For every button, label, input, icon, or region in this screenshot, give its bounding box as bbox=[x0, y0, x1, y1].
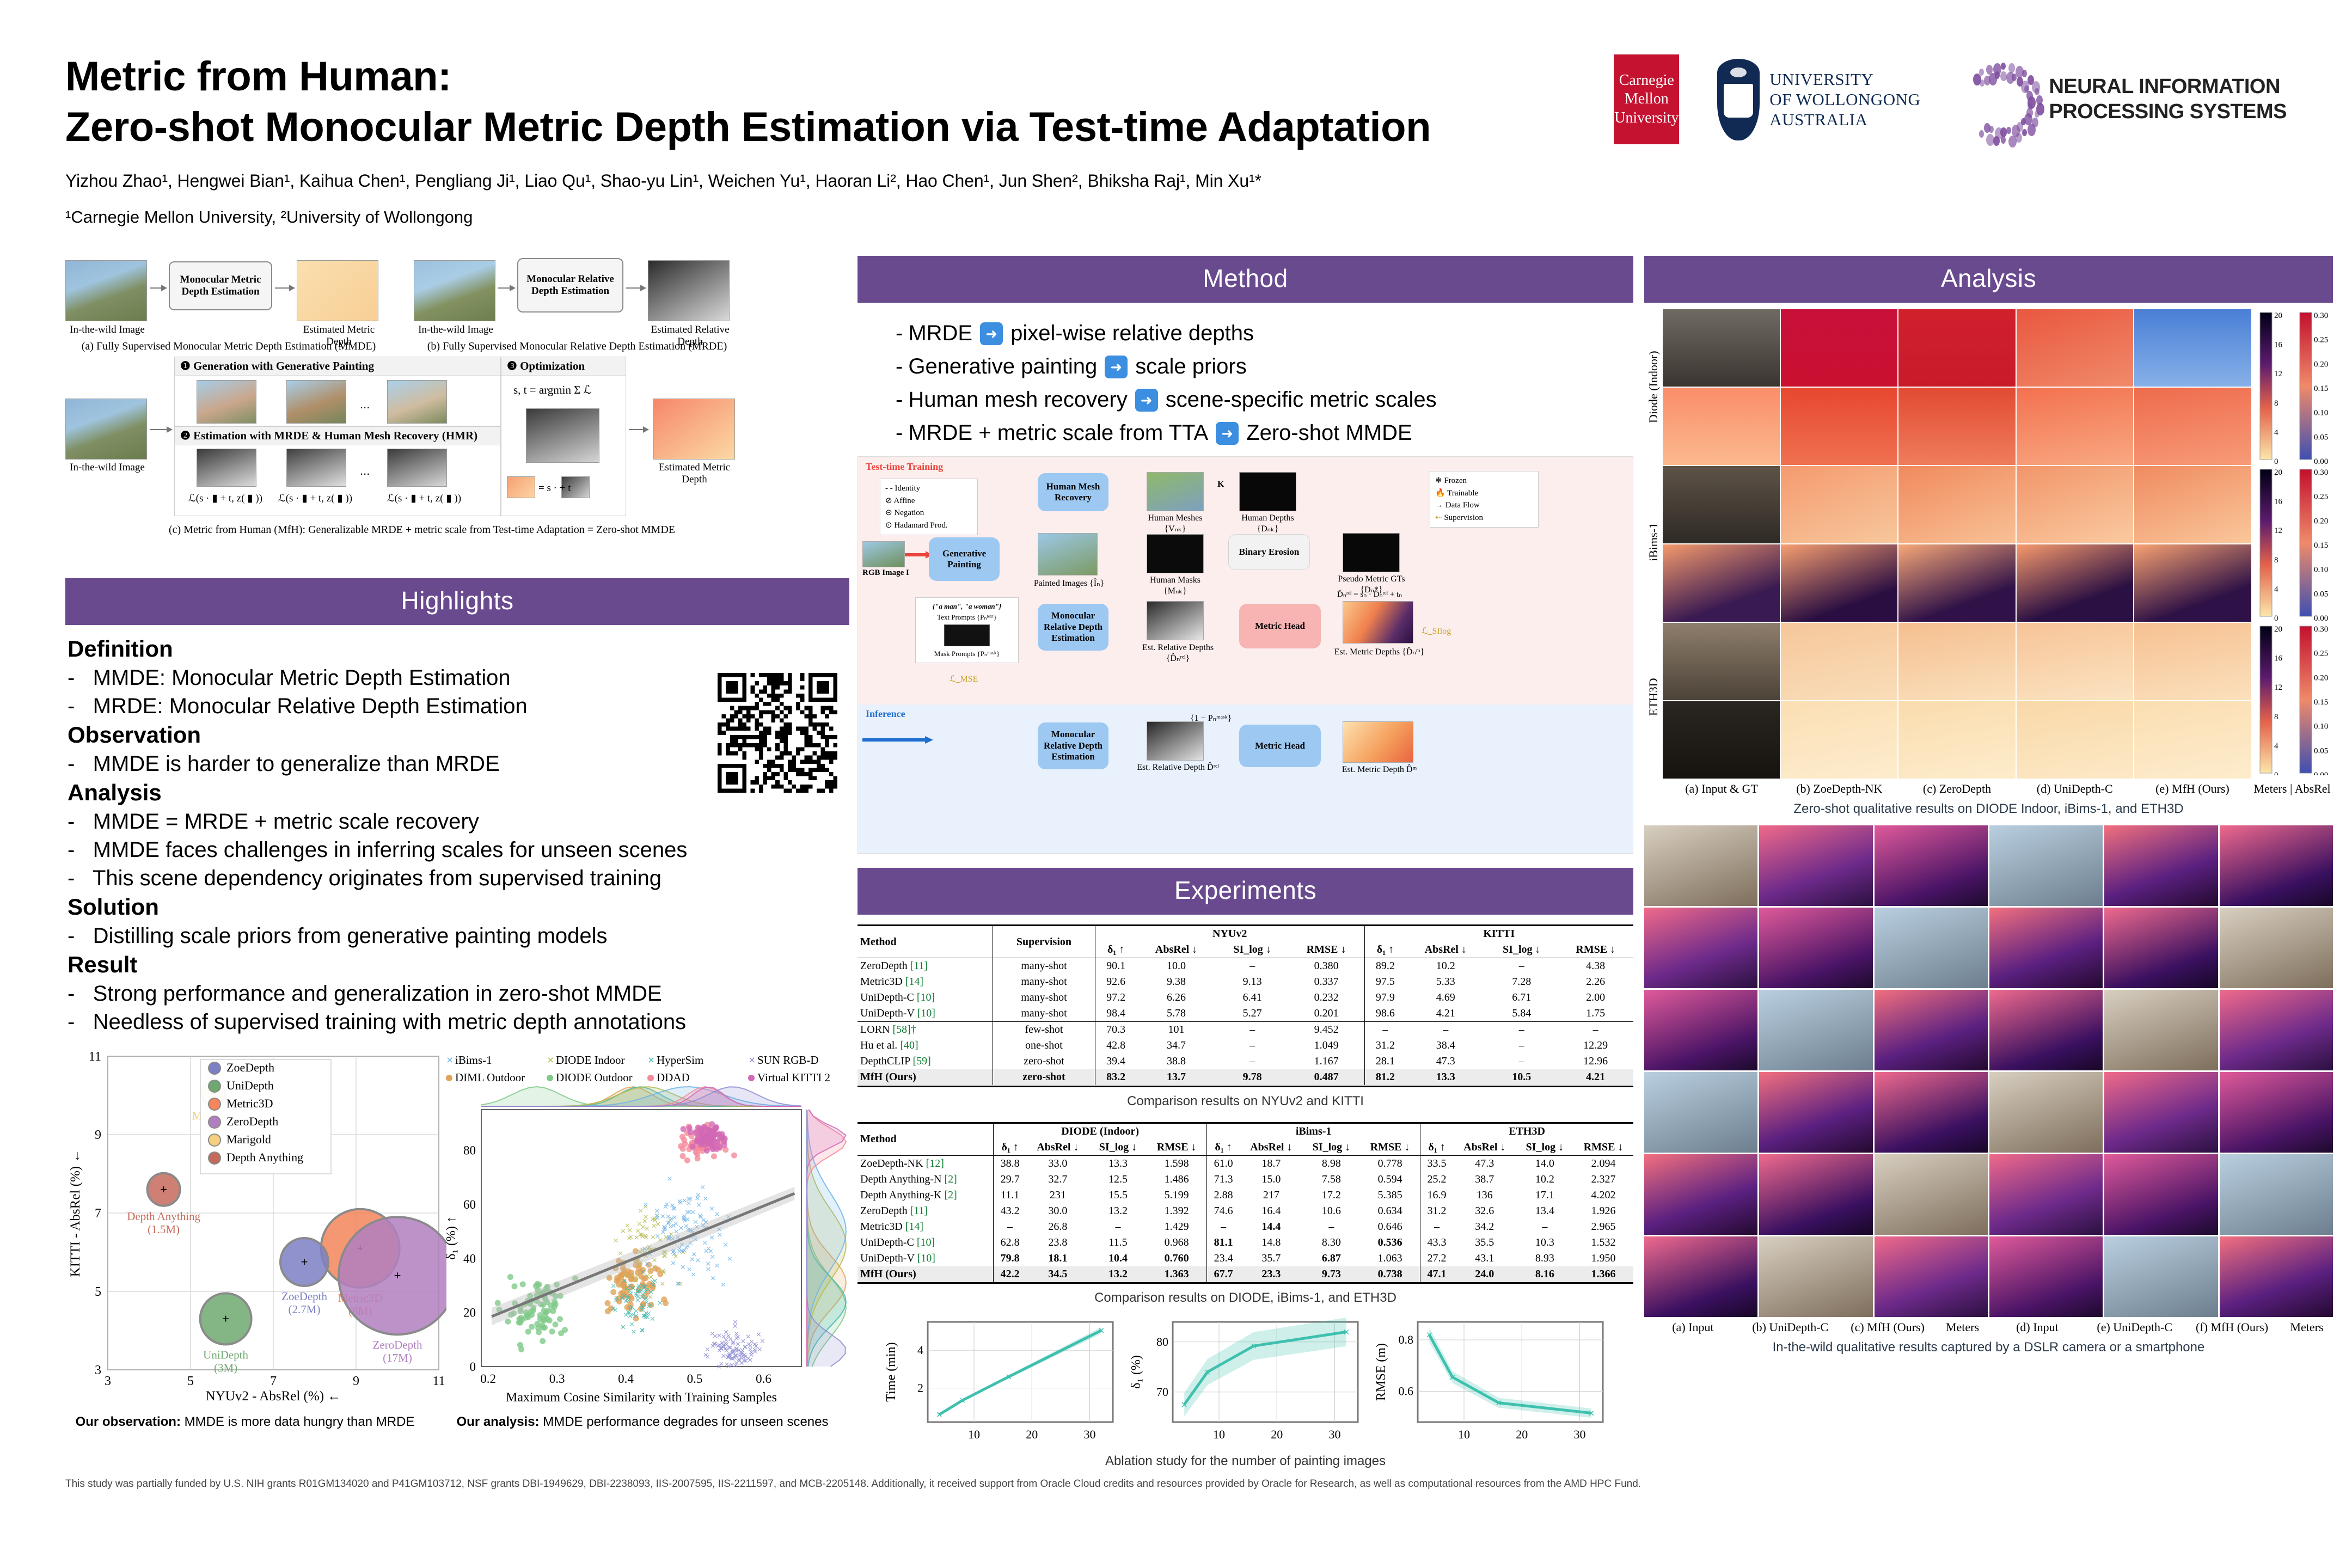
cell-method: ZeroDepth [11] bbox=[857, 1203, 994, 1219]
cell-value: – bbox=[1216, 1022, 1289, 1038]
observation-note-label: Our observation: bbox=[76, 1414, 181, 1429]
svg-text:70: 70 bbox=[1156, 1385, 1168, 1399]
svg-text:×: × bbox=[720, 1279, 726, 1290]
analysis-image-cell bbox=[1759, 825, 1872, 906]
pipeline-est-metric-depths bbox=[1343, 601, 1413, 644]
svg-text:×: × bbox=[622, 1270, 628, 1280]
svg-text:×: × bbox=[663, 1202, 668, 1212]
pipeline-legend-dataflow: → Data Flow bbox=[1435, 499, 1533, 512]
cell-value: 9.452 bbox=[1289, 1022, 1364, 1038]
cell-value: 13.3 bbox=[1406, 1069, 1485, 1085]
cell-value: 38.4 bbox=[1406, 1038, 1485, 1053]
svg-text:KITTI - AbsRel (%) ←: KITTI - AbsRel (%) ← bbox=[68, 1149, 83, 1277]
cell-value: 16.4 bbox=[1240, 1203, 1303, 1219]
svg-text:0.10: 0.10 bbox=[2314, 566, 2328, 574]
cell-method: Metric3D [14] bbox=[857, 1219, 994, 1235]
cell-value: 43.1 bbox=[1453, 1251, 1516, 1266]
pipeline-train-label: Test-time Training bbox=[866, 461, 943, 473]
cell-value: 43.3 bbox=[1420, 1235, 1453, 1251]
neurips-line1: NEURAL INFORMATION bbox=[2049, 75, 2287, 100]
svg-text:×: × bbox=[624, 1220, 630, 1230]
cell-value: – bbox=[1516, 1219, 1573, 1235]
cell-method: MfH (Ours) bbox=[857, 1266, 994, 1282]
analysis-col-caption: (e) MfH (Ours) bbox=[2134, 782, 2251, 796]
analysis-image-cell bbox=[1759, 1236, 1872, 1317]
th-metric: AbsRel ↓ bbox=[1026, 1140, 1089, 1156]
cell-value: – bbox=[1207, 1219, 1240, 1235]
op-legend-affine: ⊘ Affine bbox=[885, 495, 972, 507]
svg-text:×: × bbox=[1495, 1398, 1502, 1410]
cell-value: 32.7 bbox=[1026, 1172, 1089, 1187]
analysis-col-caption: (b) ZoeDepth-NK bbox=[1780, 782, 1898, 796]
analysis-note-text: MMDE performance degrades for unseen sce… bbox=[540, 1414, 829, 1429]
cell-value: 26.8 bbox=[1026, 1219, 1089, 1235]
cell-value: – bbox=[1364, 1022, 1406, 1038]
colorbar-meters: 201612840201612840201612840 bbox=[2259, 309, 2292, 775]
analysis-image-cell bbox=[1989, 1072, 2103, 1153]
analysis-image-cell bbox=[1898, 544, 2016, 622]
cell-value: 2.88 bbox=[1207, 1187, 1240, 1203]
analysis-image-cell bbox=[1781, 701, 1898, 779]
cell-value: 17.1 bbox=[1516, 1187, 1573, 1203]
svg-text:(1.5M): (1.5M) bbox=[148, 1223, 180, 1236]
neurips-logo-text: NEURAL INFORMATION PROCESSING SYSTEMS bbox=[2049, 75, 2287, 124]
cell-supervision: zero-shot bbox=[993, 1053, 1095, 1069]
svg-text:×: × bbox=[680, 1262, 685, 1272]
cell-value: 81.2 bbox=[1364, 1069, 1406, 1085]
teaser-step2-img1 bbox=[197, 449, 256, 487]
teaser-step2-img3 bbox=[387, 449, 447, 487]
analysis-fig1-grid bbox=[1663, 309, 2251, 779]
teaser-a-arrow1 bbox=[150, 287, 166, 289]
cell-value: – bbox=[1216, 1053, 1289, 1069]
analysis-image-cell bbox=[1875, 990, 1988, 1070]
teaser-a-model-label: Monocular Metric Depth Estimation bbox=[170, 274, 271, 298]
svg-text:RMSE (m): RMSE (m) bbox=[1374, 1343, 1388, 1401]
cell-value: 9.38 bbox=[1137, 974, 1216, 990]
th-group-kitti: KITTI bbox=[1364, 926, 1633, 942]
analysis-image-cell bbox=[1781, 309, 1898, 387]
pipeline-rgb-image bbox=[862, 541, 905, 567]
svg-text:0.6: 0.6 bbox=[1398, 1384, 1413, 1398]
svg-text:×: × bbox=[713, 1338, 718, 1349]
svg-text:×: × bbox=[710, 1273, 716, 1283]
cell-value: 47.3 bbox=[1406, 1053, 1485, 1069]
cell-value: 1.429 bbox=[1147, 1219, 1206, 1235]
svg-text:×: × bbox=[709, 1204, 715, 1214]
analysis-col-caption: (a) Input & GT bbox=[1663, 782, 1780, 796]
cell-method: ZoeDepth-NK [12] bbox=[857, 1155, 994, 1172]
analysis-image-cell bbox=[1875, 1072, 1988, 1153]
pipeline-metric-head-infer-box: Metric Head bbox=[1239, 725, 1321, 767]
analysis-figure-2: (a) Input(b) UniDepth-C(c) MfH (Ours)Met… bbox=[1644, 825, 2333, 1355]
cell-value: 38.8 bbox=[994, 1155, 1026, 1172]
analysis-image-cell bbox=[1759, 990, 1872, 1070]
cell-method: Depth Anything-N [2] bbox=[857, 1172, 994, 1187]
highlights-heading: Result bbox=[68, 952, 847, 978]
svg-text:0.05: 0.05 bbox=[2314, 590, 2328, 598]
teaser-step1-ellipsis: ... bbox=[360, 397, 370, 412]
svg-text:×: × bbox=[630, 1309, 636, 1320]
th-metric: AbsRel ↓ bbox=[1240, 1140, 1303, 1156]
svg-text:DIODE Indoor: DIODE Indoor bbox=[556, 1053, 625, 1067]
table-row: MfH (Ours)zero-shot83.213.79.780.48781.2… bbox=[857, 1069, 1633, 1085]
svg-text:×: × bbox=[614, 1293, 619, 1303]
analysis-image-cell bbox=[1898, 623, 2016, 700]
cell-value: 0.646 bbox=[1360, 1219, 1420, 1235]
th-metric: RMSE ↓ bbox=[1573, 1140, 1633, 1156]
colorbar-absrel: 0.300.250.200.150.100.050.000.300.250.20… bbox=[2299, 309, 2333, 775]
cell-value: 217 bbox=[1240, 1187, 1303, 1203]
svg-text:4: 4 bbox=[2274, 428, 2278, 437]
analysis-image-cell bbox=[1663, 388, 1780, 465]
cell-value: 38.8 bbox=[1137, 1053, 1216, 1069]
svg-text:×: × bbox=[660, 1279, 665, 1289]
th-metric: SI_log ↓ bbox=[1089, 1140, 1147, 1156]
svg-text:×: × bbox=[724, 1339, 730, 1350]
arrow-right-icon: ➜ bbox=[1216, 422, 1239, 445]
cell-value: 1.75 bbox=[1558, 1006, 1633, 1022]
cell-value: 97.2 bbox=[1095, 990, 1136, 1006]
highlights-item: MMDE = MRDE + metric scale recovery bbox=[68, 810, 847, 834]
pipeline-human-masks bbox=[1147, 534, 1204, 573]
cell-value: 8.98 bbox=[1303, 1155, 1360, 1172]
experiments-band: Experiments bbox=[857, 868, 1633, 915]
svg-text:0.20: 0.20 bbox=[2314, 360, 2328, 369]
bubble-chart: 357911357911+Marigold(74K)+Depth Anythin… bbox=[65, 1049, 446, 1408]
svg-text:7: 7 bbox=[270, 1374, 277, 1388]
th-metric: AbsRel ↓ bbox=[1453, 1140, 1516, 1156]
highlights-item: Distilling scale priors from generative … bbox=[68, 924, 847, 948]
highlights-body: DefinitionMMDE: Monocular Metric Depth E… bbox=[65, 625, 849, 1034]
table-row: UniDepth-V [10]many-shot98.45.785.270.20… bbox=[857, 1006, 1633, 1022]
teaser-step1-header: ❶ Generation with Generative Painting bbox=[175, 357, 500, 376]
cell-value: 8.93 bbox=[1516, 1251, 1573, 1266]
cell-value: 61.0 bbox=[1207, 1155, 1240, 1172]
svg-text:9: 9 bbox=[353, 1374, 359, 1388]
pipeline-legend: ❄ Frozen 🔥 Trainable → Data Flow ⇠ Super… bbox=[1430, 471, 1539, 528]
table-row: LORN [58]†few-shot70.3101–9.452–––– bbox=[857, 1022, 1633, 1038]
analysis-image-cell bbox=[1781, 466, 1898, 543]
svg-text:×: × bbox=[759, 1336, 765, 1346]
th-metric: δ₁ ↑ bbox=[1364, 942, 1406, 958]
cell-value: 62.8 bbox=[994, 1235, 1026, 1251]
neurips-swirl-icon bbox=[1958, 56, 2040, 143]
cell-value: 4.21 bbox=[1406, 1006, 1485, 1022]
neurips-logo: NEURAL INFORMATION PROCESSING SYSTEMS bbox=[1958, 56, 2287, 143]
svg-text:60: 60 bbox=[463, 1198, 476, 1211]
svg-text:DIODE Outdoor: DIODE Outdoor bbox=[556, 1071, 633, 1084]
cell-method: DepthCLIP [59] bbox=[857, 1053, 993, 1069]
cell-value: 0.536 bbox=[1360, 1235, 1420, 1251]
cell-value: 35.5 bbox=[1453, 1235, 1516, 1251]
uow-line1: UNIVERSITY bbox=[1769, 69, 1920, 89]
cell-value: 9.13 bbox=[1216, 974, 1289, 990]
analysis-image-cell bbox=[2017, 388, 2134, 465]
cell-value: 92.6 bbox=[1095, 974, 1136, 990]
analysis-fig2-caption: In-the-wild qualitative results captured… bbox=[1644, 1340, 2333, 1355]
svg-text:×: × bbox=[650, 1314, 656, 1324]
cell-value: 13.2 bbox=[1089, 1203, 1147, 1219]
method-bullet: -Generative painting➜scale priors bbox=[879, 354, 1612, 379]
cell-value: 2.327 bbox=[1573, 1172, 1633, 1187]
colorbar-divider: | bbox=[2287, 782, 2294, 795]
svg-text:0.2: 0.2 bbox=[480, 1372, 496, 1386]
analysis-col-caption: (c) ZeroDepth bbox=[1898, 782, 2016, 796]
arrow-right-icon: ➜ bbox=[980, 322, 1003, 345]
analysis-image-cell bbox=[2134, 388, 2251, 465]
cell-value: 98.4 bbox=[1095, 1006, 1136, 1022]
analysis-figure-1: Diode (Indoor)iBims-1ETH3D 2016128402016… bbox=[1644, 309, 2333, 817]
pipeline-est-metric-depth-infer bbox=[1343, 721, 1413, 763]
svg-text:0.15: 0.15 bbox=[2314, 541, 2328, 550]
teaser-step1-panel: ❶ Generation with Generative Painting ..… bbox=[174, 357, 501, 426]
svg-text:×: × bbox=[708, 1246, 713, 1257]
cell-value: 16.9 bbox=[1420, 1187, 1453, 1203]
cell-value: 23.8 bbox=[1026, 1235, 1089, 1251]
left-column: Monocular Metric Depth Estimation In-the… bbox=[65, 256, 849, 1441]
cell-value: 0.760 bbox=[1147, 1251, 1206, 1266]
colorbar-absrel-label: AbsRel bbox=[2295, 782, 2331, 795]
analysis-image-cell bbox=[1989, 1236, 2103, 1317]
teaser-step2-ellipsis: ... bbox=[360, 464, 370, 478]
cell-value: 79.8 bbox=[994, 1251, 1026, 1266]
method-bullet: -MRDE + metric scale from TTA➜Zero-shot … bbox=[879, 421, 1612, 445]
analysis-image-cell bbox=[2017, 701, 2134, 779]
table2-wrap: MethodDIODE (Indoor)iBims-1ETH3Dδ₁ ↑AbsR… bbox=[857, 1122, 1633, 1306]
bullet-dash: - bbox=[896, 354, 903, 379]
pipeline-human-meshes-label: Human Meshes {Vₙₖ} bbox=[1138, 513, 1212, 534]
teaser-c-arrow2 bbox=[629, 429, 648, 430]
analysis-image-cell bbox=[1663, 544, 1780, 622]
svg-text:×: × bbox=[640, 1325, 645, 1336]
th-metric: RMSE ↓ bbox=[1558, 942, 1633, 958]
cell-value: 5.27 bbox=[1216, 1006, 1289, 1022]
cell-value: 67.7 bbox=[1207, 1266, 1240, 1282]
cell-value: 14.8 bbox=[1240, 1235, 1303, 1251]
cell-value: 71.3 bbox=[1207, 1172, 1240, 1187]
cell-value: 83.2 bbox=[1095, 1069, 1136, 1085]
cell-method: UniDepth-C [10] bbox=[857, 1235, 994, 1251]
cell-value: 30.0 bbox=[1026, 1203, 1089, 1219]
analysis-fig1-row-labels: Diode (Indoor)iBims-1ETH3D bbox=[1644, 309, 1663, 779]
svg-text:0.00: 0.00 bbox=[2314, 614, 2328, 623]
pipeline-human-depths-label: Human Depths {Dₙₖ} bbox=[1231, 513, 1304, 534]
cell-value: 1.598 bbox=[1147, 1155, 1206, 1172]
analysis-image-cell bbox=[1781, 544, 1898, 622]
svg-text:20: 20 bbox=[2274, 625, 2282, 634]
svg-text:0.15: 0.15 bbox=[2314, 698, 2328, 707]
pipeline-prompt-text: {"a man", "a woman"} bbox=[921, 601, 1013, 612]
analysis-image-cell bbox=[1989, 1154, 2103, 1235]
analysis-col-caption: (d) Input bbox=[1988, 1320, 2086, 1334]
cell-value: 74.6 bbox=[1207, 1203, 1240, 1219]
analysis-image-cell bbox=[2220, 1154, 2333, 1235]
table-row: ZoeDepth-NK [12]38.833.013.31.59861.018.… bbox=[857, 1155, 1633, 1172]
svg-text:16: 16 bbox=[2274, 498, 2283, 506]
svg-text:0.20: 0.20 bbox=[2314, 673, 2328, 682]
svg-text:40: 40 bbox=[463, 1252, 476, 1265]
cell-value: 97.5 bbox=[1364, 974, 1406, 990]
cell-value: 31.2 bbox=[1364, 1038, 1406, 1053]
cell-value: 0.778 bbox=[1360, 1155, 1420, 1172]
pipeline-k-label: K bbox=[1217, 480, 1224, 489]
method-bullets: -MRDE➜pixel-wise relative depths-Generat… bbox=[857, 303, 1633, 449]
th-metric: RMSE ↓ bbox=[1360, 1140, 1420, 1156]
cell-value: 27.2 bbox=[1420, 1251, 1453, 1266]
cell-value: 5.199 bbox=[1147, 1187, 1206, 1203]
th-metric: δ₁ ↑ bbox=[1095, 942, 1136, 958]
svg-text:×: × bbox=[749, 1337, 754, 1347]
cell-value: 29.7 bbox=[994, 1172, 1026, 1187]
cell-value: 97.9 bbox=[1364, 990, 1406, 1006]
cell-value: 0.380 bbox=[1289, 958, 1364, 975]
cell-value: 1.486 bbox=[1147, 1172, 1206, 1187]
cell-value: – bbox=[1485, 958, 1558, 975]
svg-text:16: 16 bbox=[2274, 341, 2283, 350]
svg-text:×: × bbox=[662, 1224, 667, 1234]
analysis-image-cell bbox=[2017, 544, 2134, 622]
pipeline-hmr-box: Human Mesh Recovery bbox=[1038, 473, 1108, 511]
svg-text:0: 0 bbox=[2274, 457, 2278, 466]
cell-value: 2.094 bbox=[1573, 1155, 1633, 1172]
table-row: MfH (Ours)42.234.513.21.36367.723.39.730… bbox=[857, 1266, 1633, 1282]
cell-value: 24.0 bbox=[1453, 1266, 1516, 1282]
svg-text:×: × bbox=[1449, 1371, 1455, 1383]
svg-text:×: × bbox=[1426, 1330, 1432, 1342]
svg-text:ZeroDepth: ZeroDepth bbox=[373, 1338, 422, 1351]
analysis-fig2-col-captions: (a) Input(b) UniDepth-C(c) MfH (Ours)Met… bbox=[1644, 1320, 2333, 1334]
svg-text:20: 20 bbox=[2274, 468, 2282, 477]
cell-supervision: many-shot bbox=[993, 990, 1095, 1006]
teaser-a-caption: (a) Fully Supervised Monocular Metric De… bbox=[65, 340, 392, 353]
svg-text:ZoeDepth: ZoeDepth bbox=[281, 1290, 327, 1303]
pipeline-pseudo-gts bbox=[1343, 533, 1400, 572]
svg-text:20: 20 bbox=[1026, 1428, 1038, 1441]
analysis-col-caption: (f) MfH (Ours) bbox=[2183, 1320, 2281, 1334]
uow-logo: UNIVERSITY OF WOLLONGONG AUSTRALIA bbox=[1717, 59, 1920, 140]
analysis-image-cell bbox=[2134, 309, 2251, 387]
pipeline-human-depths bbox=[1239, 472, 1296, 511]
teaser-figure: Monocular Metric Depth Estimation In-the… bbox=[65, 256, 849, 561]
cell-value: 15.5 bbox=[1089, 1187, 1147, 1203]
svg-text:×: × bbox=[703, 1193, 708, 1204]
cell-value: 42.8 bbox=[1095, 1038, 1136, 1053]
th-metric: RMSE ↓ bbox=[1147, 1140, 1206, 1156]
svg-text:×: × bbox=[660, 1266, 665, 1277]
table-row: ZeroDepth [11]many-shot90.110.0–0.38089.… bbox=[857, 958, 1633, 975]
observation-note-text: MMDE is more data hungry than MRDE bbox=[181, 1414, 414, 1429]
svg-text:δ₁ (%): δ₁ (%) bbox=[1129, 1355, 1143, 1389]
svg-text:×: × bbox=[633, 1275, 638, 1285]
ablation-chart-1: 10203024××××Time (min) bbox=[881, 1314, 1120, 1450]
th-metric: AbsRel ↓ bbox=[1137, 942, 1216, 958]
svg-text:×: × bbox=[667, 1173, 672, 1184]
analysis-image-cell bbox=[1898, 388, 2016, 465]
logo-row: Carnegie Mellon University UNIVERSITY OF… bbox=[1614, 54, 2287, 144]
uow-shield-icon bbox=[1717, 59, 1760, 140]
cell-value: 34.2 bbox=[1453, 1219, 1516, 1235]
svg-text:2: 2 bbox=[917, 1381, 923, 1395]
svg-text:Virtual KITTI 2: Virtual KITTI 2 bbox=[757, 1071, 830, 1084]
svg-text:×: × bbox=[1204, 1367, 1210, 1379]
cell-value: 70.3 bbox=[1095, 1022, 1136, 1038]
svg-text:80: 80 bbox=[463, 1144, 476, 1157]
analysis-fig1-colorbars: 201612840201612840201612840 0.300.250.20… bbox=[2251, 309, 2333, 779]
cell-value: 0.337 bbox=[1289, 974, 1364, 990]
cell-supervision: one-shot bbox=[993, 1038, 1095, 1053]
cell-value: 4.69 bbox=[1406, 990, 1485, 1006]
cell-value: 39.4 bbox=[1095, 1053, 1136, 1069]
cell-value: 4.21 bbox=[1558, 1069, 1633, 1085]
svg-text:20: 20 bbox=[463, 1306, 476, 1320]
svg-text:+: + bbox=[394, 1269, 401, 1282]
svg-text:×: × bbox=[654, 1205, 660, 1216]
cell-value: 34.5 bbox=[1026, 1266, 1089, 1282]
cell-method: Hu et al. [40] bbox=[857, 1038, 993, 1053]
svg-text:80: 80 bbox=[1156, 1335, 1168, 1349]
cell-value: 47.3 bbox=[1453, 1155, 1516, 1172]
teaser-step2-header: ❷ Estimation with MRDE & Human Mesh Reco… bbox=[175, 427, 500, 445]
teaser-a-output-image bbox=[297, 260, 378, 321]
colorbar-meters-label: Meters bbox=[1936, 1320, 1988, 1334]
cell-value: 18.7 bbox=[1240, 1155, 1303, 1172]
cell-value: 136 bbox=[1453, 1187, 1516, 1203]
teaser-optim-small-metric bbox=[507, 476, 535, 498]
table-row: Depth Anything-K [2]11.123115.55.1992.88… bbox=[857, 1187, 1633, 1203]
cell-value: 1.063 bbox=[1360, 1251, 1420, 1266]
svg-text:×: × bbox=[1098, 1325, 1104, 1337]
cell-supervision: few-shot bbox=[993, 1022, 1095, 1038]
table-row: DepthCLIP [59]zero-shot39.438.8–1.16728.… bbox=[857, 1053, 1633, 1069]
colorbar-meters-label: Meters bbox=[2281, 1320, 2333, 1334]
svg-text:×: × bbox=[648, 1054, 654, 1067]
analysis-image-cell bbox=[1759, 1154, 1872, 1235]
cell-value: 10.2 bbox=[1406, 958, 1485, 975]
ablation-caption: Ablation study for the number of paintin… bbox=[857, 1454, 1633, 1469]
cell-value: 6.41 bbox=[1216, 990, 1289, 1006]
table1-wrap: MethodSupervisionNYUv2KITTIδ₁ ↑AbsRel ↓S… bbox=[857, 924, 1633, 1109]
method-bullet-left: Generative painting bbox=[908, 354, 1097, 379]
analysis-image-cell bbox=[1644, 908, 1757, 988]
svg-text:+: + bbox=[301, 1255, 308, 1269]
analysis-image-cell bbox=[1898, 701, 2016, 779]
th-group-nyuv2: NYUv2 bbox=[1095, 926, 1364, 942]
cell-value: – bbox=[1303, 1219, 1360, 1235]
analysis-image-cell bbox=[1663, 701, 1780, 779]
table-row: Hu et al. [40]one-shot42.834.7–1.04931.2… bbox=[857, 1038, 1633, 1053]
svg-text:×: × bbox=[665, 1211, 671, 1222]
cell-value: 11.5 bbox=[1089, 1235, 1147, 1251]
experiments-panel: Experiments MethodSupervisionNYUv2KITTIδ… bbox=[857, 868, 1633, 1469]
cell-value: 34.7 bbox=[1137, 1038, 1216, 1053]
th-metric: SI_log ↓ bbox=[1216, 942, 1289, 958]
footer-acknowledgment: This study was partially funded by U.S. … bbox=[65, 1478, 2287, 1490]
cell-value: 33.0 bbox=[1026, 1155, 1089, 1172]
qr-code[interactable] bbox=[718, 673, 837, 793]
cell-value: 0.232 bbox=[1289, 990, 1364, 1006]
analysis-image-cell bbox=[1875, 908, 1988, 988]
method-band: Method bbox=[857, 256, 1633, 303]
pipeline-infer-arrow-icon bbox=[862, 736, 933, 744]
arrow-right-icon: ➜ bbox=[1135, 389, 1158, 412]
svg-text:Maximum Cosine Similarity with: Maximum Cosine Similarity with Training … bbox=[506, 1391, 777, 1405]
analysis-image-cell bbox=[1644, 825, 1757, 906]
similarity-chart-svg: ×iBims-1×DIODE Indoor×HyperSim×SUN RGB-D… bbox=[441, 1049, 855, 1408]
svg-text:×: × bbox=[687, 1264, 692, 1275]
analysis-image-cell bbox=[2134, 544, 2251, 622]
teaser-step1-img2 bbox=[286, 380, 346, 424]
